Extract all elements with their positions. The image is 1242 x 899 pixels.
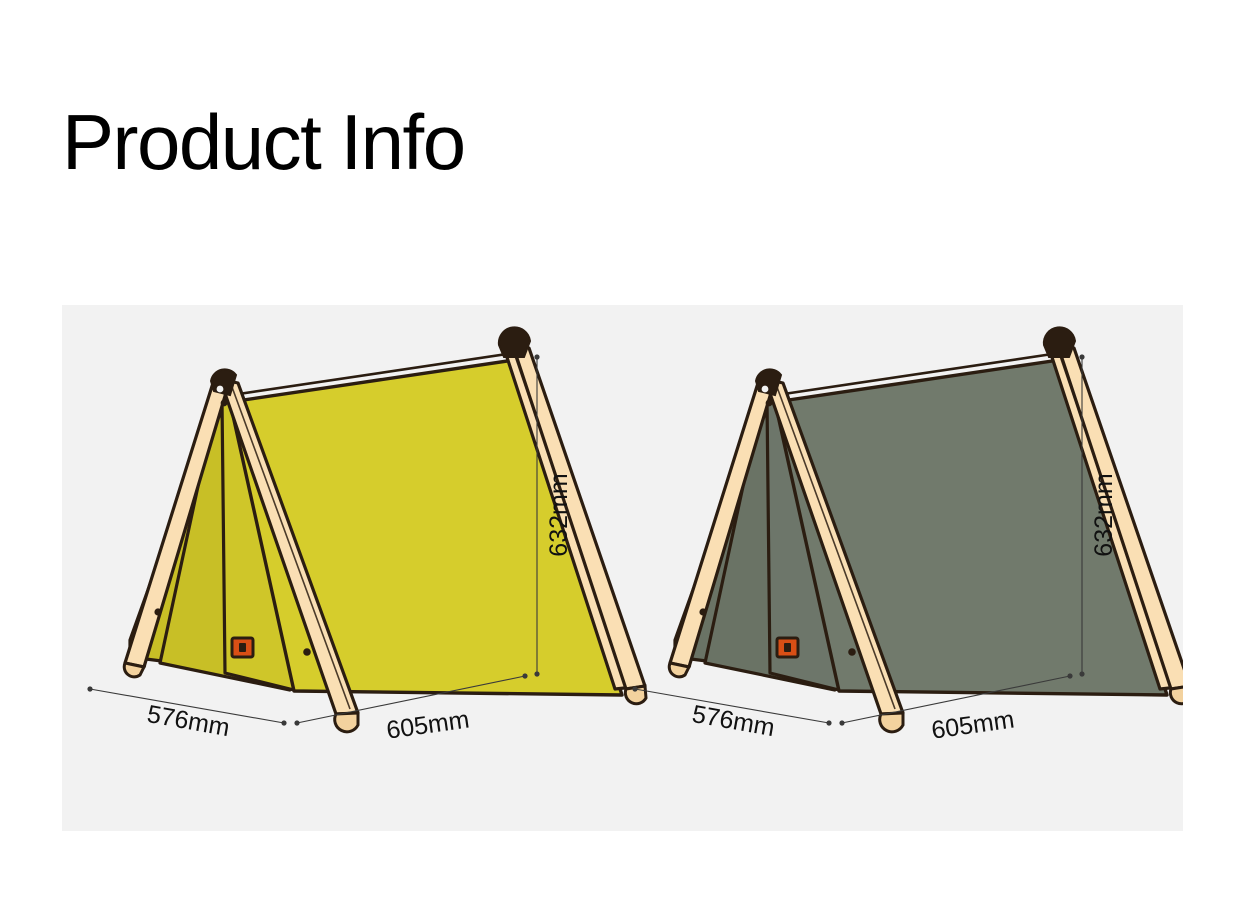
page-root: Product Info xyxy=(0,0,1242,899)
pole-yellow-apex-cap-right xyxy=(499,327,530,357)
screw-hole-icon xyxy=(766,400,773,407)
page-title: Product Info xyxy=(62,102,465,184)
screw-hole-icon xyxy=(221,400,228,407)
screw-hole-icon xyxy=(154,608,161,615)
dim-label-width-sage: 605mm xyxy=(930,705,1016,744)
dim-label-height-sage: 632mm xyxy=(1090,473,1118,556)
dim-endpoint xyxy=(632,686,637,691)
dim-endpoint xyxy=(1079,354,1084,359)
dim-endpoint xyxy=(826,720,831,725)
product-spec-panel: 632mm 576mm 605mm xyxy=(62,305,1183,831)
screw-hole-icon xyxy=(303,648,311,656)
screw-hole-icon xyxy=(217,386,224,393)
pole-yellow-rear-left-foot xyxy=(124,663,144,677)
dim-label-width-yellow: 605mm xyxy=(385,705,471,744)
dim-label-depth-sage: 576mm xyxy=(690,700,777,742)
screw-hole-icon xyxy=(699,608,706,615)
pole-yellow-front-left-foot xyxy=(335,713,358,732)
spec-illustration: 632mm 576mm 605mm xyxy=(62,305,1183,831)
dim-label-depth-yellow: 576mm xyxy=(145,700,232,742)
dim-endpoint xyxy=(534,671,539,676)
dim-endpoint xyxy=(522,673,527,678)
pole-sage-front-right-foot xyxy=(1170,686,1183,704)
pole-sage-apex-cap-right xyxy=(1044,327,1075,357)
pole-sage-rear-left-foot xyxy=(669,663,689,677)
screw-hole-icon xyxy=(762,386,769,393)
brand-logo-tag-icon xyxy=(777,638,798,657)
dim-endpoint xyxy=(1067,673,1072,678)
dim-label-height-yellow: 632mm xyxy=(545,473,573,556)
dim-endpoint xyxy=(839,720,844,725)
dim-endpoint xyxy=(87,686,92,691)
dim-endpoint xyxy=(534,354,539,359)
screw-hole-icon xyxy=(848,648,856,656)
dim-endpoint xyxy=(294,720,299,725)
dim-endpoint xyxy=(1079,671,1084,676)
brand-logo-tag-icon xyxy=(232,638,253,657)
dim-endpoint xyxy=(281,720,286,725)
pole-sage-front-left-foot xyxy=(880,713,903,732)
